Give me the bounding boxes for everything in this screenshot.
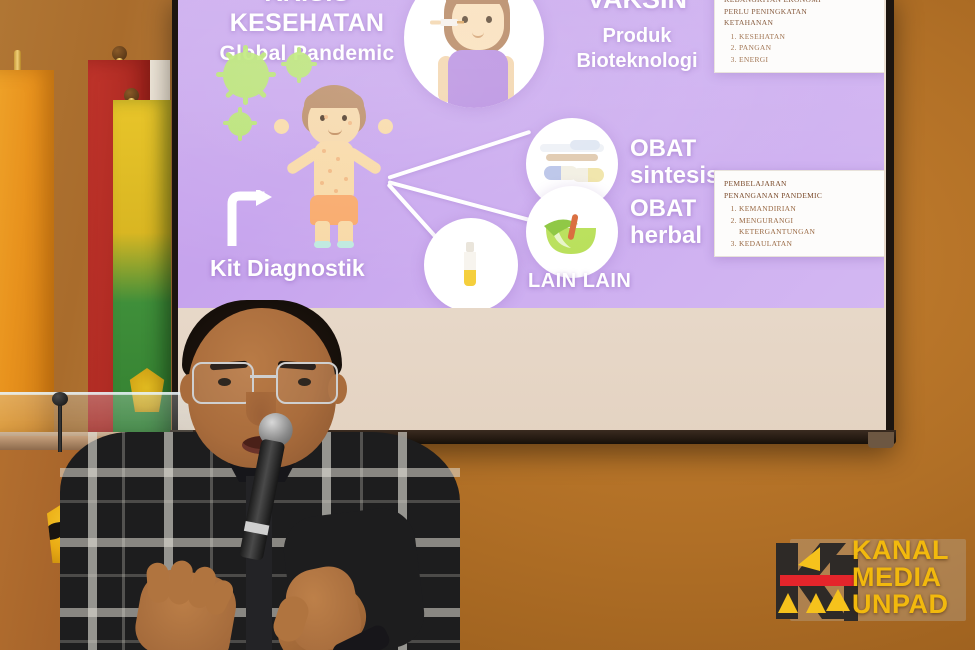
girl-vaccination-icon — [428, 0, 522, 108]
list-item: MENGURANGI KETERGANTUNGAN — [739, 215, 876, 238]
list-item-line2: KETERGANTUNGAN — [739, 227, 815, 236]
virus-icon — [223, 52, 269, 98]
infobox-lessons: PEMBELAJARAN PENANGANAN PANDEMIC KEMANDI… — [714, 170, 884, 257]
watermark-text: KANAL MEDIA UNPAD — [852, 537, 949, 618]
vaccine-sublabel: Produk Bioteknologi — [542, 24, 732, 74]
arrow-up-right-icon — [226, 190, 272, 246]
synthetic-drug-label-line1: OBAT — [630, 135, 696, 162]
herbal-drug-label: OBAT herbal — [630, 195, 702, 249]
synthetic-drug-label: OBAT sintesis — [630, 135, 719, 189]
infobox-economy-list: KESEHATAN PANGAN ENERGI — [724, 31, 876, 66]
syringe-icon — [430, 16, 464, 28]
herbal-drug-circle — [526, 186, 618, 278]
presentation-slide: KRISIS KESEHATAN Global Pandemic — [178, 0, 884, 308]
watermark-kanal-media-unpad: KANAL MEDIA UNPAD — [768, 531, 968, 631]
projection-screen-foot — [868, 432, 894, 448]
tablet-icon — [570, 140, 600, 150]
watermark-line-1: KANAL — [852, 537, 949, 564]
list-item: KESEHATAN — [739, 31, 876, 43]
infobox-economy: KEBANGKITAN EKONOMI PERLU PENINGKATAN KE… — [714, 0, 884, 73]
diagnostic-kit-circle — [424, 218, 518, 308]
list-item: PANGAN — [739, 42, 876, 54]
test-vial-icon — [460, 242, 480, 290]
other-label: LAIN LAIN — [528, 270, 631, 293]
watermark-red-bar — [780, 575, 854, 586]
connector-line-pills — [387, 130, 531, 180]
infobox-lessons-list: KEMANDIRIAN MENGURANGI KETERGANTUNGAN KE… — [724, 203, 876, 249]
synthetic-drug-label-line2: sintesis — [630, 162, 719, 189]
infobox-economy-heading-2: PERLU PENINGKATAN — [724, 6, 876, 18]
slide-title-main: KRISIS KESEHATAN — [230, 0, 385, 37]
sick-child-illustration — [288, 85, 380, 245]
infobox-lessons-heading-1: PEMBELAJARAN — [724, 178, 876, 190]
list-item: ENERGI — [739, 54, 876, 66]
infobox-economy-heading-3: KETAHANAN — [724, 17, 876, 29]
mortar-pestle-icon — [542, 212, 600, 256]
herbal-drug-label-line2: herbal — [630, 222, 702, 249]
list-item-line1: MENGURANGI — [739, 216, 793, 225]
speaker-person — [60, 300, 460, 650]
virus-icon — [228, 112, 252, 136]
watermark-line-2: MEDIA — [852, 564, 949, 591]
list-item: KEMANDIRIAN — [739, 203, 876, 215]
capsule-icon — [572, 168, 604, 182]
diagnostic-kit-label: Kit Diagnostik — [210, 255, 365, 282]
watermark-line-3: UNPAD — [852, 591, 949, 618]
herbal-drug-label-line1: OBAT — [630, 195, 696, 222]
connector-line-herbal — [387, 180, 533, 223]
vaccine-label: VAKSIN — [542, 0, 732, 15]
vaccine-illustration-circle — [404, 0, 544, 108]
list-item: KEDAULATAN — [739, 238, 876, 250]
tablet-icon — [546, 154, 598, 161]
infobox-lessons-heading-2: PENANGANAN PANDEMIC — [724, 190, 876, 202]
photo-canvas: KRISIS KESEHATAN Global Pandemic — [0, 0, 975, 650]
virus-icon — [286, 52, 312, 78]
